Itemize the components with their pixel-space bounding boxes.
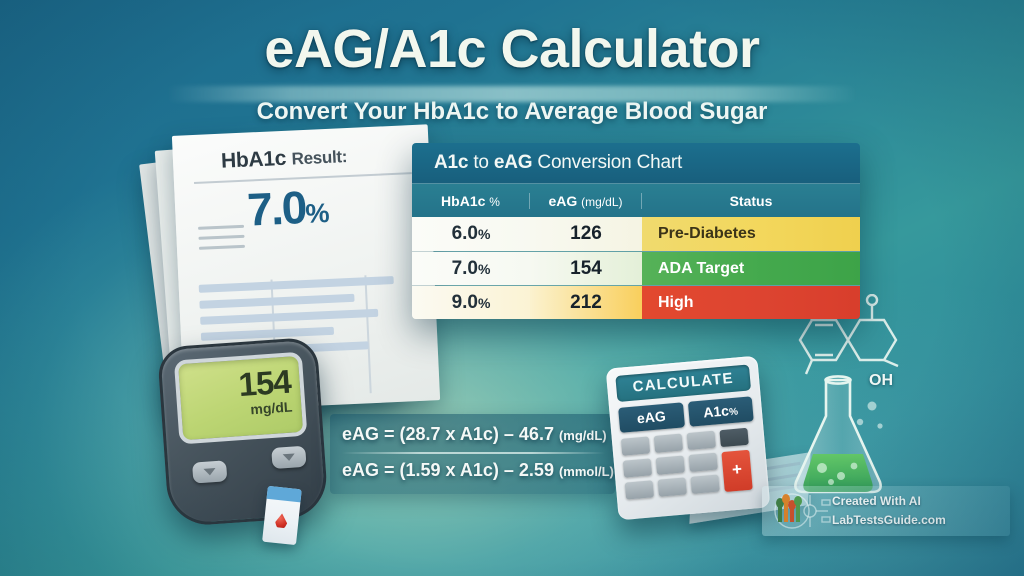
formula-mmoll: eAG = (1.59 x A1c) – 2.59 (mmol/L) bbox=[342, 454, 605, 488]
paper-tick-marks bbox=[198, 225, 245, 257]
calculator-display: CALCULATE bbox=[615, 364, 751, 402]
cell-status: High bbox=[642, 286, 860, 319]
glucose-meter: 154 mg/dL bbox=[157, 337, 329, 528]
conversion-table-title: A1c to eAG Conversion Chart bbox=[412, 143, 860, 183]
title-divider bbox=[167, 86, 857, 102]
cell-hba1c: 9.0% bbox=[412, 286, 530, 319]
page-subtitle: Convert Your HbA1c to Average Blood Suga… bbox=[0, 98, 1024, 126]
infographic-canvas: eAG/A1c Calculator Convert Your HbA1c to… bbox=[0, 0, 1024, 576]
header: eAG/A1c Calculator Convert Your HbA1c to… bbox=[0, 0, 1024, 126]
calculator-function-row: eAG A1c% bbox=[618, 396, 754, 433]
calculator: CALCULATE eAG A1c% + bbox=[606, 356, 771, 521]
erlenmeyer-flask-icon bbox=[786, 370, 906, 500]
column-header-eag: eAG (mg/dL) bbox=[530, 193, 642, 209]
labtestsguide-logo-icon bbox=[762, 488, 832, 534]
watermark-text: Created With AI LabTestsGuide.com bbox=[832, 492, 946, 529]
calculator-key-dark[interactable] bbox=[719, 428, 748, 447]
watermark-line-2: LabTestsGuide.com bbox=[832, 511, 946, 530]
calculator-key[interactable] bbox=[621, 436, 650, 455]
calculator-key[interactable] bbox=[654, 434, 683, 453]
cell-eag: 154 bbox=[530, 252, 642, 285]
cell-hba1c: 6.0% bbox=[412, 217, 530, 251]
conversion-table-card: A1c to eAG Conversion Chart HbA1c % eAG … bbox=[412, 143, 860, 319]
calculator-key[interactable] bbox=[687, 431, 716, 450]
meter-screen: 154 mg/dL bbox=[174, 352, 308, 445]
cell-status: Pre-Diabetes bbox=[642, 217, 860, 251]
table-row: 9.0% 212 High bbox=[412, 285, 860, 319]
cell-eag: 212 bbox=[530, 286, 642, 319]
formula-panel: eAG = (28.7 x A1c) – 46.7 (mg/dL) eAG = … bbox=[330, 414, 615, 494]
calculator-body: CALCULATE eAG A1c% + bbox=[606, 356, 771, 521]
calculator-keypad: + bbox=[621, 427, 761, 510]
column-header-hba1c: HbA1c % bbox=[412, 193, 530, 209]
calculator-eag-button[interactable]: eAG bbox=[618, 402, 684, 433]
table-row: 7.0% 154 ADA Target bbox=[412, 251, 860, 285]
calculator-key[interactable] bbox=[658, 477, 687, 496]
watermark: Created With AI LabTestsGuide.com bbox=[762, 486, 1010, 536]
plus-icon: + bbox=[730, 463, 743, 476]
table-row: 6.0% 126 Pre-Diabetes bbox=[412, 217, 860, 251]
calculator-key[interactable] bbox=[623, 458, 652, 477]
blood-drop-icon bbox=[275, 513, 289, 529]
test-strip bbox=[262, 486, 302, 545]
conversion-table-header-row: HbA1c % eAG (mg/dL) Status bbox=[412, 183, 860, 217]
calculator-key[interactable] bbox=[690, 474, 719, 493]
calculator-key[interactable] bbox=[656, 455, 685, 474]
cell-hba1c: 7.0% bbox=[412, 252, 530, 285]
cell-eag: 126 bbox=[530, 217, 642, 251]
hba1c-result-label: HbA1c Result: bbox=[221, 141, 412, 174]
calculator-a1c-button[interactable]: A1c% bbox=[687, 396, 753, 427]
meter-button-right[interactable] bbox=[271, 446, 306, 469]
chemistry-illustration: OH bbox=[772, 298, 932, 508]
test-strip-cap bbox=[267, 486, 302, 502]
watermark-line-1: Created With AI bbox=[832, 492, 946, 511]
cell-status: ADA Target bbox=[642, 252, 860, 285]
hba1c-result-value: 7.0% bbox=[246, 178, 414, 234]
calculator-key[interactable] bbox=[625, 480, 654, 499]
column-header-status: Status bbox=[642, 193, 860, 209]
calculator-plus-key[interactable]: + bbox=[721, 450, 752, 492]
page-title: eAG/A1c Calculator bbox=[0, 18, 1024, 80]
meter-button-left[interactable] bbox=[192, 460, 227, 483]
formula-mgdl: eAG = (28.7 x A1c) – 46.7 (mg/dL) bbox=[342, 418, 605, 452]
calculator-key[interactable] bbox=[688, 453, 717, 472]
